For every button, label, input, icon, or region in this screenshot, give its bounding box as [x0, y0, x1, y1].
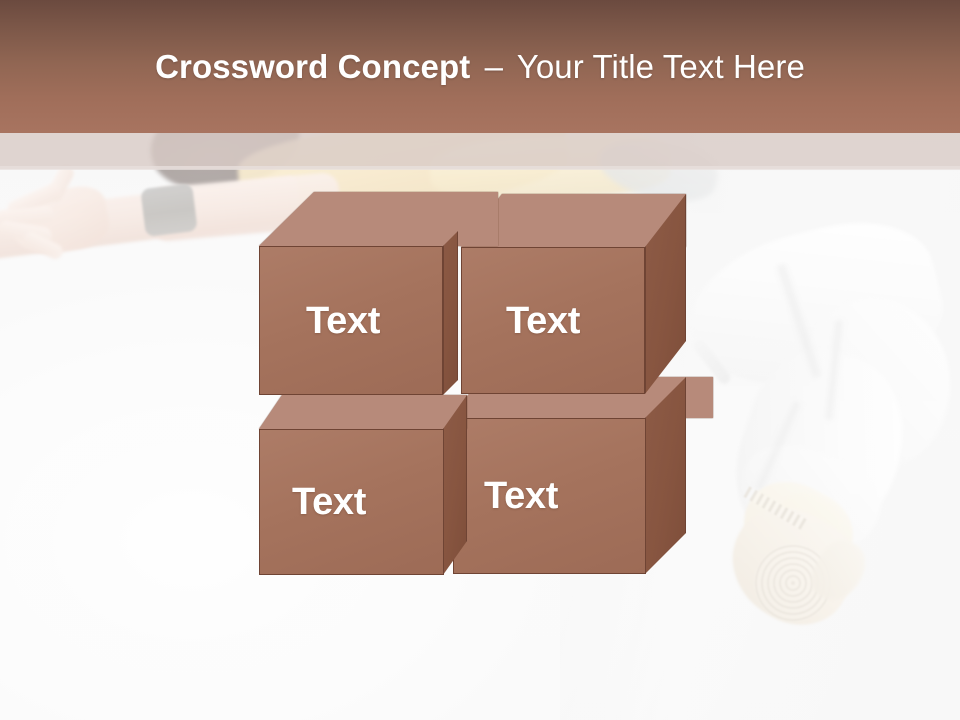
- box-bottom-right-front-face: Text: [453, 418, 646, 574]
- box-bottom-left-front-face: Text: [259, 429, 444, 575]
- title-bold-part: Crossword Concept: [155, 48, 470, 85]
- title-bar: Crossword Concept – Your Title Text Here: [0, 0, 960, 133]
- title-normal-part: Your Title Text Here: [517, 48, 805, 85]
- box-top-right-front-face: Text: [461, 247, 645, 394]
- title-separator: –: [480, 48, 508, 85]
- header-underband: [0, 133, 960, 169]
- box-top-left-top-face: [259, 192, 498, 246]
- box-top-left-front-face: Text: [259, 246, 443, 395]
- header-underband-edge: [0, 166, 960, 170]
- page-title: Crossword Concept – Your Title Text Here: [0, 47, 960, 87]
- slide-canvas: Text Text Text Text: [0, 0, 960, 720]
- box-bottom-left-top-face: [259, 395, 467, 429]
- box-top-left-label: Text: [306, 302, 380, 340]
- box-bottom-left-label: Text: [292, 483, 366, 521]
- box-bottom-right-label: Text: [484, 477, 558, 515]
- box-top-right-label: Text: [506, 302, 580, 340]
